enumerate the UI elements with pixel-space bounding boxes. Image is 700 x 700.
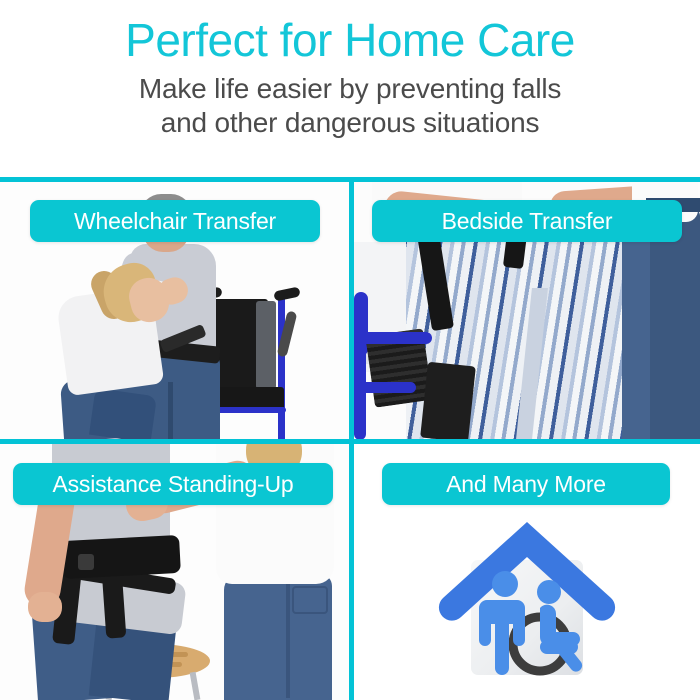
label-text: Assistance Standing-Up <box>52 471 293 498</box>
page-subtitle: Make life easier by preventing falls and… <box>139 72 561 140</box>
house-accessibility-icon <box>427 500 627 690</box>
label-text: Wheelchair Transfer <box>74 208 276 235</box>
subtitle-line-2: and other dangerous situations <box>139 106 561 140</box>
label-bedside-transfer[interactable]: Bedside Transfer <box>372 200 682 242</box>
label-text: And Many More <box>446 471 606 498</box>
label-text: Bedside Transfer <box>442 208 613 235</box>
home-care-infographic: Perfect for Home Care Make life easier b… <box>0 0 700 700</box>
header: Perfect for Home Care Make life easier b… <box>0 0 700 177</box>
label-wheelchair-transfer[interactable]: Wheelchair Transfer <box>30 200 320 242</box>
subtitle-line-1: Make life easier by preventing falls <box>139 72 561 106</box>
label-and-many-more[interactable]: And Many More <box>382 463 670 505</box>
label-assistance-standing-up[interactable]: Assistance Standing-Up <box>13 463 333 505</box>
page-title: Perfect for Home Care <box>125 14 575 66</box>
